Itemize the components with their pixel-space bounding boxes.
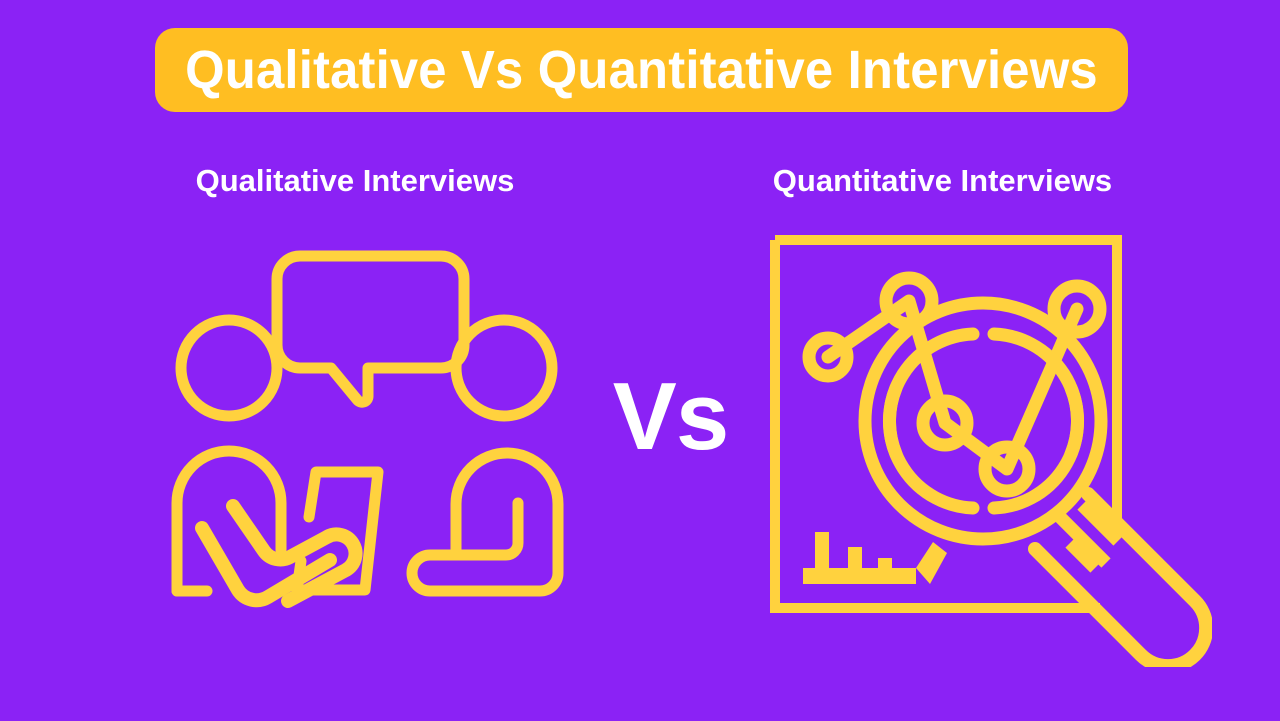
magnifying-glass-data-chart-icon: [770, 235, 1212, 667]
left-person-head-icon: [181, 320, 277, 416]
two-people-conversation-icon: [160, 238, 580, 610]
versus-label: Vs: [598, 362, 743, 472]
magnifier-lens-icon: [865, 303, 1101, 539]
qualitative-column-heading: Qualitative Interviews: [0, 165, 710, 196]
right-person-body-icon: [412, 453, 558, 591]
speech-bubble-icon: [277, 256, 464, 402]
quantitative-column-heading: Quantitative Interviews: [700, 165, 1185, 196]
bar-chart-icon: [803, 532, 947, 584]
slide-canvas: Qualitative Vs Quantitative Interviews Q…: [0, 0, 1280, 721]
title-banner: Qualitative Vs Quantitative Interviews: [155, 28, 1128, 112]
page-title: Qualitative Vs Quantitative Interviews: [185, 43, 1098, 97]
right-person-head-icon: [456, 320, 552, 416]
